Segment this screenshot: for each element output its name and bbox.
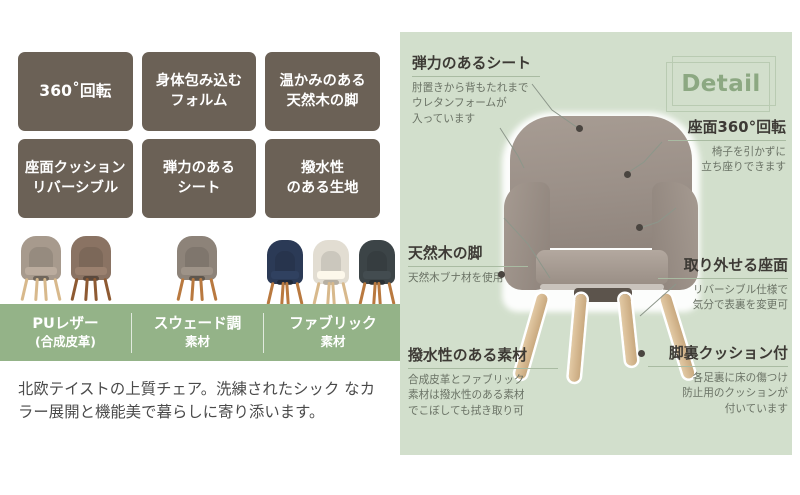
material-subtitle: 素材 [264,334,402,350]
annotation-seat-360-rotation: 座面360°回転 椅子を引かずに 立ち座りできます [668,116,786,176]
annotation-elastic-seat: 弾力のあるシート 肘置きから背もたれまで ウレタンフォームが 入っています [412,52,540,127]
annotation-body: リバーシブル仕様で 気分で表裏を変更可 [658,279,788,314]
chair-inner [321,251,341,273]
annotation-title: 弾力のあるシート [412,52,540,76]
annotation-body: 各足裏に床の傷つけ 防止用のクッションが 付いています [648,367,788,417]
annotation-title: 天然木の脚 [408,242,528,266]
annotation-removable-seat: 取り外せる座面 リバーシブル仕様で 気分で表裏を変更可 [658,254,788,314]
feature-box-water-repellent-fabric: 撥水性 のある生地 [265,139,380,218]
chair-variant-row [0,224,400,304]
chair-inner [367,251,387,273]
chair-seat [363,271,391,279]
infographic-canvas: 360˚回転 身体包み込む フォルム 温かみのある 天然木の脚 座面クッション … [0,0,800,495]
chair-fabric-charcoal [356,236,398,304]
annotation-natural-wood-legs: 天然木の脚 天然木ブナ材を使用 [408,242,528,286]
annotation-title: 脚裏クッション付 [648,342,788,366]
annotation-dot-elastic-seat [576,125,583,132]
chair-inner [79,247,103,269]
material-label-fabric: ファブリック 素材 [264,297,402,369]
feature-box-natural-wood-legs: 温かみのある 天然木の脚 [265,52,380,131]
material-title: ファブリック [289,315,377,332]
annotation-water-repellent-material: 撥水性のある素材 合成皮革とファブリック 素材は撥水性のある素材 でこぼしても拭… [408,344,558,419]
annotation-title: 撥水性のある素材 [408,344,558,368]
material-title: スウェード調 [154,315,242,332]
chair-group-pu-leather [0,224,131,304]
feature-box-rotation: 360˚回転 [18,52,133,131]
chair-group-suede [131,224,262,304]
left-panel: 360˚回転 身体包み込む フォルム 温かみのある 天然木の脚 座面クッション … [0,0,400,495]
feature-box-elastic-seat: 弾力のある シート [142,139,257,218]
material-subtitle: 素材 [132,334,263,350]
chair-seat [25,267,57,275]
chair-group-fabric [262,224,400,304]
annotation-dot-removable-seat [636,224,643,231]
annotation-title: 座面360°回転 [668,116,786,140]
product-description: 北欧テイストの上質チェア。洗練されたシック なカラー展開と機能美で暮らしに寄り添… [18,378,386,425]
material-subtitle: (合成皮革) [0,334,131,350]
chair-fabric-navy [264,236,306,304]
material-banner: PUレザー (合成皮革) スウェード調 素材 ファブリック 素材 [0,304,400,361]
chair-suede-greige [174,232,220,304]
annotation-body: 肘置きから背もたれまで ウレタンフォームが 入っています [412,77,540,127]
detail-panel: Detail [400,32,792,455]
chair-fabric-ivory [310,236,352,304]
material-title: PUレザー [32,315,98,332]
chair-seat [271,271,299,279]
chair-pu-beige [18,232,64,304]
annotation-dot-leg-bottom-cushion [638,350,645,357]
chair-pu-brown [68,232,114,304]
chair-inner [29,247,53,269]
feature-grid: 360˚回転 身体包み込む フォルム 温かみのある 天然木の脚 座面クッション … [18,52,380,218]
annotation-body: 天然木ブナ材を使用 [408,267,528,286]
material-label-pu-leather: PUレザー (合成皮革) [0,297,131,369]
annotation-body: 椅子を引かずに 立ち座りできます [668,141,786,176]
annotation-dot-seat-360-rotation [624,171,631,178]
chair-seat [317,271,345,279]
chair-seat [181,267,213,275]
feature-box-reversible-cushion: 座面クッション リバーシブル [18,139,133,218]
chair-seat-cushion [536,250,668,284]
annotation-leg-bottom-cushion: 脚裏クッション付 各足裏に床の傷つけ 防止用のクッションが 付いています [648,342,788,417]
chair-seat [75,267,107,275]
feature-box-body-wrapping-form: 身体包み込む フォルム [142,52,257,131]
annotation-body: 合成皮革とファブリック 素材は撥水性のある素材 でこぼしても拭き取り可 [408,369,558,419]
annotation-dot-natural-wood-legs [498,271,505,278]
chair-inner [185,247,209,269]
chair-inner [275,251,295,273]
material-label-suede: スウェード調 素材 [132,297,263,369]
annotation-title: 取り外せる座面 [658,254,788,278]
